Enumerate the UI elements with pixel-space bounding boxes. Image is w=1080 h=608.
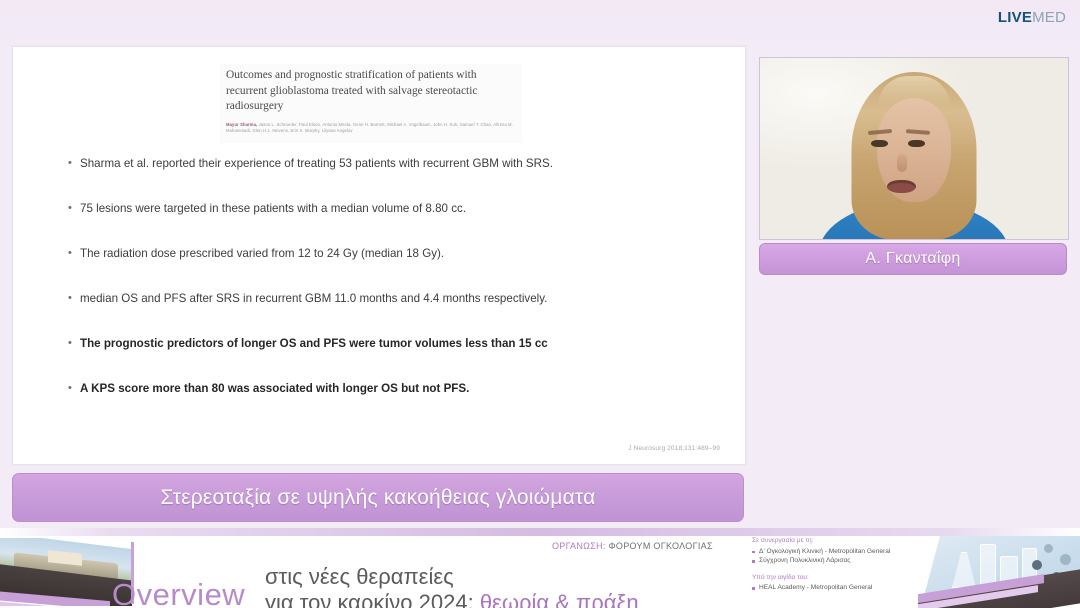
talk-title-text: Στερεοταξία σε υψηλής κακοήθειας γλοιώμα… xyxy=(161,486,596,510)
conference-title: στις νέες θεραπείες για τον καρκίνο 2024… xyxy=(265,564,639,608)
bullet-marker-icon: • xyxy=(68,245,80,262)
overview-label: Overview xyxy=(112,578,245,608)
paper-author-list: Jason L. Schroeder, Paul Elson, Antonio … xyxy=(226,122,513,134)
list-item: • A KPS score more than 80 was associate… xyxy=(68,380,721,397)
speaker-eye-left xyxy=(871,140,888,147)
logo-live-text: LIVE xyxy=(998,9,1032,26)
auspices-heading: Υπό την αιγίδα του: xyxy=(752,573,922,583)
lab-image xyxy=(918,536,1080,608)
collaboration-list: Δ’ Ογκολογική Κλινική - Metropolitan Gen… xyxy=(752,547,922,566)
bullet-text: 75 lesions were targeted in these patien… xyxy=(80,200,466,217)
speaker-name-banner: Α. Γκανταΐφη xyxy=(759,243,1067,275)
list-item: • Sharma et al. reported their experienc… xyxy=(68,155,721,172)
conference-title-line2-accent: θεωρία & πράξη xyxy=(480,590,639,608)
bullet-marker-icon: • xyxy=(68,335,80,352)
bullet-text: median OS and PFS after SRS in recurrent… xyxy=(80,290,547,307)
paper-authors: Mayur Sharma, Jason L. Schroeder, Paul E… xyxy=(226,122,516,135)
organizer-label: ΟΡΓΑΝΩΣΗ: xyxy=(552,541,608,551)
speaker-video[interactable] xyxy=(759,57,1069,240)
organizer-value: ΦΟΡΟΥΜ ΟΓΚΟΛΟΓΙΑΣ xyxy=(608,541,712,551)
speaker-nose xyxy=(897,154,907,172)
organizer-line: ΟΡΓΑΝΩΣΗ: ΦΟΡΟΥΜ ΟΓΚΟΛΟΓΙΑΣ xyxy=(552,540,713,552)
slide-bullet-list: • Sharma et al. reported their experienc… xyxy=(68,155,721,425)
list-item: Σύγχρονη Πολυκλινική Λάρισας xyxy=(752,556,922,566)
conference-title-line1: στις νέες θεραπείες xyxy=(265,564,639,590)
slide-citation: J Neurosurg 2018;131:489–99 xyxy=(628,445,720,452)
speaker-mouth xyxy=(887,180,916,193)
auspices-list: HEAL Academy - Metropolitan General xyxy=(752,583,922,593)
list-item: • median OS and PFS after SRS in recurre… xyxy=(68,290,721,307)
paper-title: Outcomes and prognostic stratification o… xyxy=(226,68,516,115)
speaker-name-text: Α. Γκανταΐφη xyxy=(865,250,960,268)
molecule-node xyxy=(1060,554,1071,565)
bullet-text: The prognostic predictors of longer OS a… xyxy=(80,335,548,352)
speaker-eye-right xyxy=(908,140,925,147)
paper-reference-header: Outcomes and prognostic stratification o… xyxy=(220,64,522,143)
list-item: HEAL Academy - Metropolitan General xyxy=(752,583,922,593)
collaboration-heading: Σε συνεργασία με τη: xyxy=(752,536,922,546)
footer-partners: Σε συνεργασία με τη: Δ’ Ογκολογική Κλινι… xyxy=(752,536,922,600)
logo-med-text: MED xyxy=(1032,9,1066,26)
bullet-text: The radiation dose prescribed varied fro… xyxy=(80,245,444,262)
footer-top-divider xyxy=(0,528,1080,536)
bullet-text: A KPS score more than 80 was associated … xyxy=(80,380,469,397)
list-item: Δ’ Ογκολογική Κλινική - Metropolitan Gen… xyxy=(752,547,922,557)
bullet-marker-icon: • xyxy=(68,290,80,307)
presentation-slide[interactable]: Outcomes and prognostic stratification o… xyxy=(12,46,746,465)
top-bar: LIVEMED xyxy=(0,0,1080,40)
list-item: • 75 lesions were targeted in these pati… xyxy=(68,200,721,217)
bullet-marker-icon: • xyxy=(68,155,80,172)
conference-title-line2-plain: για τον καρκίνο 2024: xyxy=(265,590,480,608)
list-item: • The radiation dose prescribed varied f… xyxy=(68,245,721,262)
molecule-node xyxy=(1032,560,1042,570)
talk-title-banner: Στερεοταξία σε υψηλής κακοήθειας γλοιώμα… xyxy=(12,473,744,522)
conference-title-line2: για τον καρκίνο 2024: θεωρία & πράξη xyxy=(265,590,639,608)
molecule-node xyxy=(1044,544,1053,553)
livemed-logo: LIVEMED xyxy=(998,8,1066,28)
bullet-text: Sharma et al. reported their experience … xyxy=(80,155,553,172)
paper-first-author: Mayur Sharma, xyxy=(226,122,257,127)
list-item: • The prognostic predictors of longer OS… xyxy=(68,335,721,352)
bullet-marker-icon: • xyxy=(68,200,80,217)
bullet-marker-icon: • xyxy=(68,380,80,397)
